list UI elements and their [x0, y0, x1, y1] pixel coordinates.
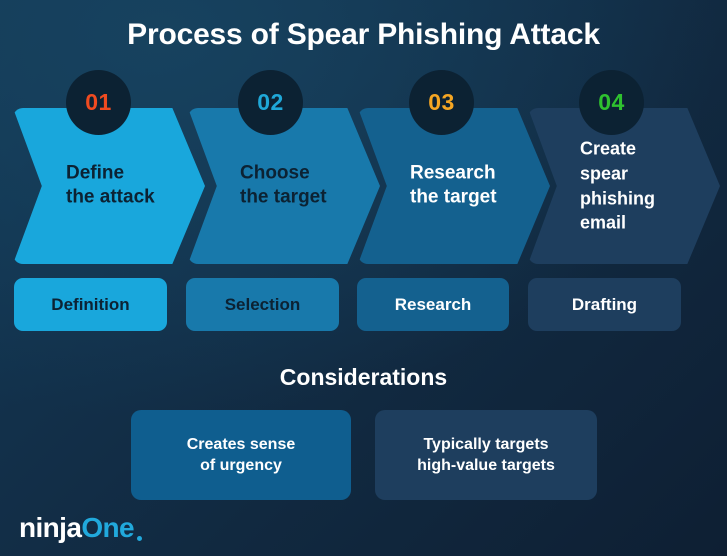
step-label-drafting[interactable]: Drafting: [528, 278, 681, 331]
step-label-selection[interactable]: Selection: [186, 278, 339, 331]
step-number-badge-2: 02: [238, 70, 303, 135]
logo-text-ninja: ninja: [19, 512, 81, 544]
step-3-text: Research the target: [410, 162, 497, 211]
logo-text-one: One: [81, 512, 134, 544]
step-number-badge-3: 03: [409, 70, 474, 135]
step-2-text: Choose the target: [240, 162, 327, 211]
infographic-canvas: Process of Spear Phishing Attack Define …: [0, 0, 727, 556]
step-1-text: Define the attack: [66, 162, 155, 211]
step-label-definition[interactable]: Definition: [14, 278, 167, 331]
registered-dot-icon: [137, 536, 142, 541]
consideration-card-1[interactable]: Creates sense of urgency: [131, 410, 351, 500]
step-number-badge-1: 01: [66, 70, 131, 135]
considerations-heading: Considerations: [0, 364, 727, 391]
step-number-badge-4: 04: [579, 70, 644, 135]
consideration-card-2[interactable]: Typically targets high-value targets: [375, 410, 597, 500]
considerations-row: Creates sense of urgency Typically targe…: [0, 410, 727, 500]
step-labels-row: Definition Selection Research Drafting: [0, 278, 727, 331]
step-4-text: Create spear phishing email: [580, 136, 655, 235]
page-title: Process of Spear Phishing Attack: [0, 18, 727, 52]
ninjaone-logo[interactable]: ninja One: [19, 512, 142, 544]
step-label-research[interactable]: Research: [357, 278, 509, 331]
